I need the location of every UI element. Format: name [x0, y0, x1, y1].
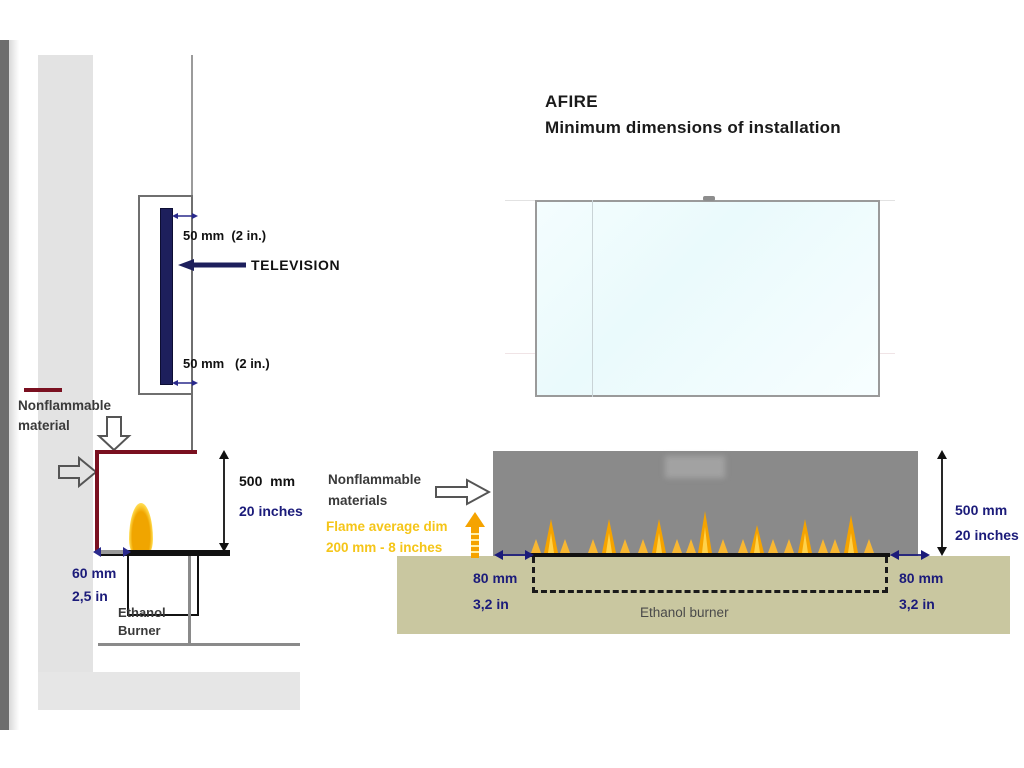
height-in-label-right: 20 inches — [955, 527, 1019, 543]
height-mm-label-left: 500 mm — [239, 473, 295, 489]
nonflammable-color-swatch — [24, 388, 62, 392]
diagram-canvas: 50 mm (2 in.) TELEVISION 50 mm (2 in.) N… — [0, 0, 1024, 768]
gap-arrow-top — [172, 208, 198, 218]
nonflammable-materials-line1: Nonflammable — [328, 472, 421, 487]
burner-label-left-line1: Ethanol — [118, 605, 166, 620]
height-mm-label-right: 500 mm — [955, 502, 1007, 518]
flame-height-arrow-up — [464, 512, 486, 558]
nonflammable-materials-line2: materials — [328, 493, 387, 508]
window-edge-dark-strip — [0, 40, 9, 730]
setback-arrow-left — [93, 545, 131, 557]
setback-in-label: 2,5 in — [72, 588, 108, 604]
flame-row-front-view — [530, 505, 890, 553]
clearance-bottom-label: 50 mm (2 in.) — [183, 356, 270, 371]
window-edge-light-strip — [9, 40, 38, 730]
burner-support-line — [188, 556, 191, 644]
burner-label-left-line2: Burner — [118, 623, 161, 638]
nonflammable-surface-vertical — [95, 450, 99, 553]
television-panel — [160, 208, 173, 385]
gap-arrow-bottom — [172, 375, 198, 385]
television-label: TELEVISION — [251, 257, 340, 273]
tv-bracket-top-arm — [138, 195, 193, 197]
wall-panel-highlight — [665, 456, 725, 478]
clearance-arrow-left-front — [494, 548, 534, 560]
wall-section-band — [38, 55, 93, 710]
height-dimension-arrow-left — [216, 450, 232, 552]
nonflammable-label-line2: material — [18, 418, 70, 433]
television-screen-front-view — [535, 200, 880, 397]
tv-bracket-vertical — [138, 195, 140, 395]
callout-arrow-down — [95, 416, 133, 452]
ceiling-guide-line — [191, 55, 193, 205]
burner-label-front-view: Ethanol burner — [640, 605, 729, 620]
height-dimension-arrow-right — [934, 450, 950, 556]
flame-dimension-note-line2: 200 mm - 8 inches — [326, 540, 442, 555]
floor-reference-line — [98, 643, 300, 646]
television-screen-seam — [592, 200, 593, 397]
nonflammable-label-line1: Nonflammable — [18, 398, 111, 413]
callout-arrow-right — [58, 455, 98, 489]
right-clearance-mm-label: 80 mm — [899, 570, 943, 586]
floor-section-band — [38, 672, 300, 710]
clearance-top-label: 50 mm (2 in.) — [183, 228, 266, 243]
clearance-arrow-right-front — [890, 548, 930, 560]
setback-mm-label: 60 mm — [72, 565, 116, 581]
television-pointer-arrow — [178, 258, 246, 272]
television-mount-nub — [703, 196, 715, 201]
callout-arrow-right-2 — [435, 478, 491, 506]
left-clearance-in-label: 3,2 in — [473, 596, 509, 612]
nonflammable-surface-horizontal — [95, 450, 197, 454]
page-title: AFIRE — [545, 92, 598, 112]
page-subtitle: Minimum dimensions of installation — [545, 118, 841, 138]
height-in-label-left: 20 inches — [239, 503, 303, 519]
tv-bracket-bottom-arm — [138, 393, 193, 395]
right-clearance-in-label: 3,2 in — [899, 596, 935, 612]
flame-dimension-note-line1: Flame average dim — [326, 519, 448, 534]
left-clearance-mm-label: 80 mm — [473, 570, 517, 586]
ethanol-burner-outline — [532, 557, 888, 593]
